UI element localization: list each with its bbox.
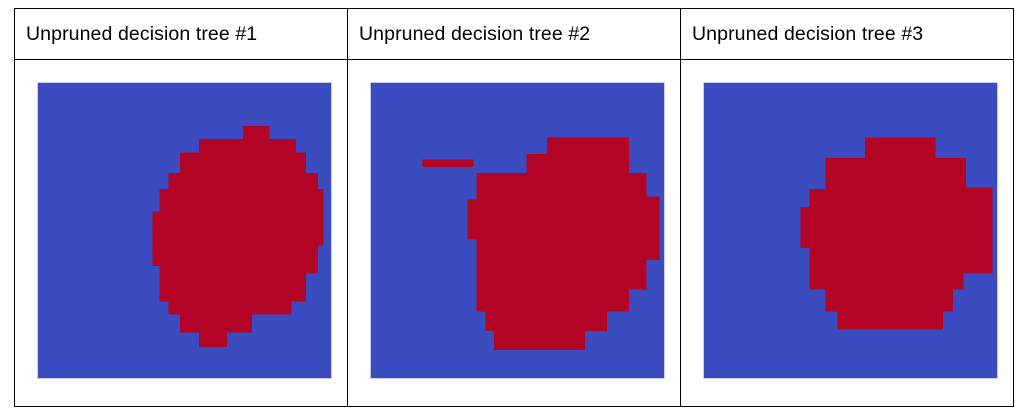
decision-boundary-plot-tree-2 <box>370 82 665 379</box>
decision-tree-comparison-table: Unpruned decision tree #1 Unpruned decis… <box>14 8 1014 407</box>
table-cell-plot-tree-2 <box>348 60 681 407</box>
table-header-cell-tree-3: Unpruned decision tree #3 <box>681 9 1014 60</box>
decision-boundary-svg-tree-2 <box>371 83 664 378</box>
decision-boundary-plot-tree-3 <box>703 82 998 379</box>
column-title-tree-3: Unpruned decision tree #3 <box>681 9 1013 59</box>
column-title-tree-1: Unpruned decision tree #1 <box>15 9 347 59</box>
table-cell-plot-tree-3 <box>681 60 1014 407</box>
screenshot-root: Unpruned decision tree #1 Unpruned decis… <box>0 0 1028 418</box>
class-1-sliver-region-tree-2 <box>422 160 473 167</box>
decision-boundary-plot-tree-1 <box>37 82 332 379</box>
decision-boundary-svg-tree-3 <box>704 83 997 378</box>
table-header-row: Unpruned decision tree #1 Unpruned decis… <box>15 9 1014 60</box>
decision-boundary-svg-tree-1 <box>38 83 331 378</box>
column-title-tree-2: Unpruned decision tree #2 <box>348 9 680 59</box>
table-cell-plot-tree-1 <box>15 60 348 407</box>
table-header-cell-tree-2: Unpruned decision tree #2 <box>348 9 681 60</box>
table-body-row <box>15 60 1014 407</box>
table-header-cell-tree-1: Unpruned decision tree #1 <box>15 9 348 60</box>
